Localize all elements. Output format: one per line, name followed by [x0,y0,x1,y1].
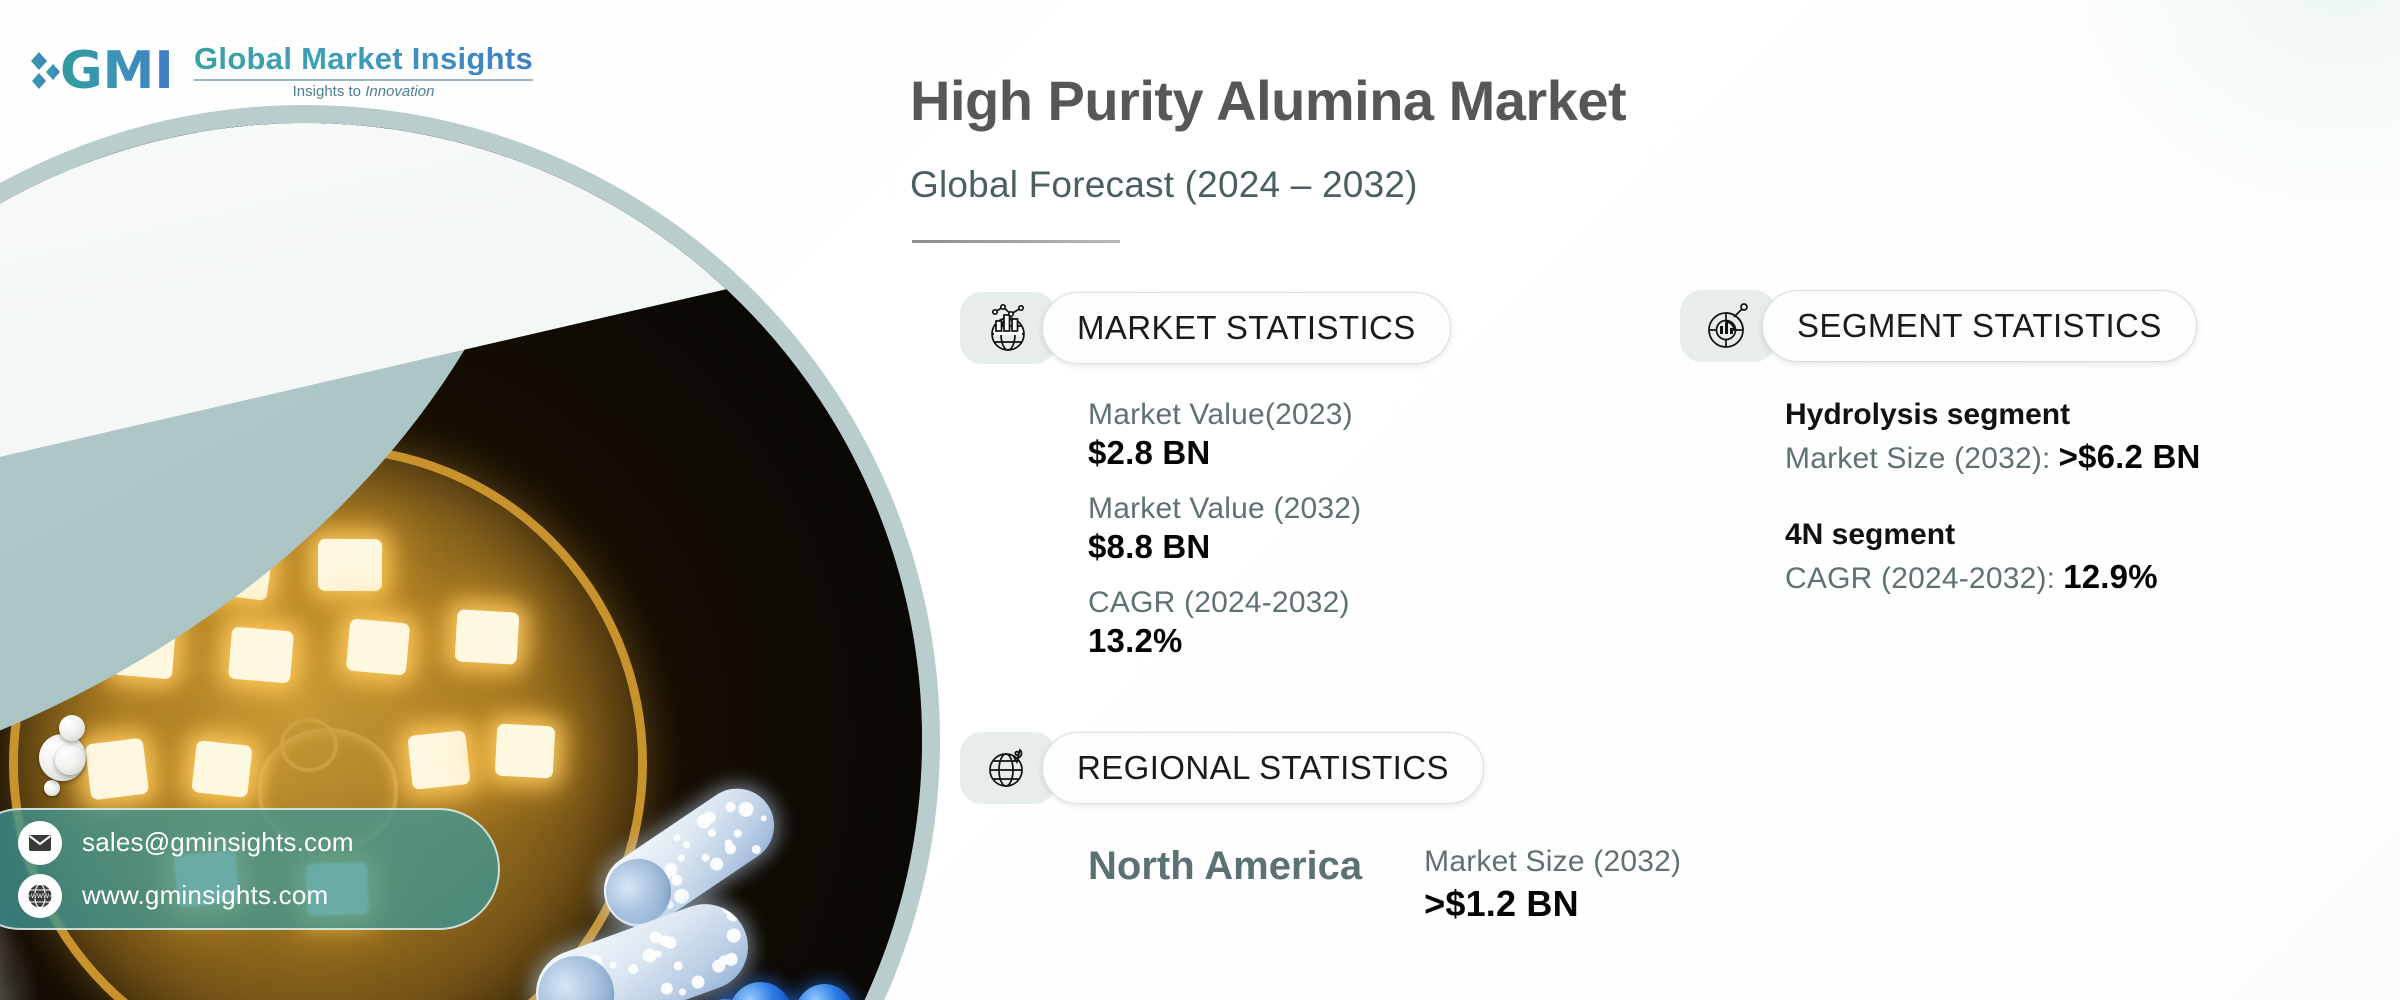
led-chip [318,539,382,591]
led-chip [495,724,556,779]
www-globe-icon: WWW [18,874,62,918]
led-dot [641,947,659,965]
market-statistics-header[interactable]: MARKET STATISTICS [960,292,1451,364]
tube-cap [528,945,625,1000]
led-dot [725,927,742,944]
market-row-value: 13.2% [1088,622,1361,660]
segment-metric-value: 12.9% [2063,558,2158,596]
contact-panel[interactable]: sales@gminsights.com WWW www.gminsights.… [0,808,500,930]
led-dot [609,960,618,969]
brand-divider [194,79,533,81]
segment-metric-value: >$6.2 BN [2059,438,2201,476]
brand-logo[interactable]: GMI Global Market Insights Insights to I… [30,40,533,102]
region-stats: Market Size (2032) >$1.2 BN [1424,845,1681,925]
gmi-diamonds-logo-icon: GMI [30,40,180,102]
led-dot [627,962,640,975]
segment-metric-label: CAGR (2024-2032): [1785,562,2055,596]
region-metric-label: Market Size (2032) [1424,845,1681,879]
segment-metric-row: CAGR (2024-2032): 12.9% [1785,558,2201,596]
market-row-value: $8.8 BN [1088,528,1361,566]
led-dot [706,828,717,839]
title-underline [912,240,1120,243]
blue-led-bulb [794,984,855,1000]
led-dot [690,974,707,991]
segment-metric-label: Market Size (2032): [1785,442,2051,476]
led-dot [672,960,684,972]
market-statistics-body: Market Value(2023) $2.8 BN Market Value … [1088,398,1361,680]
led-dot [750,843,762,855]
led-chip [85,738,149,801]
led-dot [732,828,742,838]
segment-statistics-body: Hydrolysis segment Market Size (2032): >… [1785,398,2201,638]
segment-metric-row: Market Size (2032): >$6.2 BN [1785,438,2201,476]
regional-statistics-label: REGIONAL STATISTICS [1042,732,1484,804]
envelope-icon [18,821,62,865]
led-dot [676,853,685,862]
contact-email-text: sales@gminsights.com [82,827,354,858]
segment-title: Hydrolysis segment [1785,398,2201,432]
led-dot [678,988,687,997]
alumina-sphere [59,715,85,741]
contact-email-row[interactable]: sales@gminsights.com [18,821,472,865]
market-row-value: $2.8 BN [1088,434,1361,472]
led-chip [191,740,252,798]
led-dot [682,840,691,849]
brand-tagline: Insights to Innovation [194,84,533,99]
led-dot [708,855,726,873]
brand-name: Global Market Insights [194,43,533,76]
segment-block: Hydrolysis segment Market Size (2032): >… [1785,398,2201,476]
segment-block: 4N segment CAGR (2024-2032): 12.9% [1785,518,2201,596]
led-chip [455,609,520,664]
contact-website-row[interactable]: WWW www.gminsights.com [18,874,472,918]
led-dot [672,833,681,842]
svg-text:WWW: WWW [31,893,49,900]
tagline-emphasis: Innovation [365,83,434,100]
led-chip [407,730,470,790]
brand-text-block: Global Market Insights Insights to Innov… [194,43,533,100]
alumina-sphere [55,745,85,775]
led-dot [659,981,675,997]
region-metric-value: >$1.2 BN [1424,883,1681,925]
segment-statistics-header[interactable]: SEGMENT STATISTICS [1680,290,2197,362]
market-row-label: Market Value (2032) [1088,492,1361,526]
segment-statistics-label: SEGMENT STATISTICS [1762,290,2197,362]
infographic-canvas: sales@gminsights.com WWW www.gminsights.… [0,0,2400,1000]
contact-website-text: www.gminsights.com [82,880,328,911]
led-dot [736,799,756,819]
market-statistics-label: MARKET STATISTICS [1042,292,1451,364]
led-dot [724,800,737,813]
tagline-prefix: Insights to [293,83,366,100]
market-row-label: CAGR (2024-2032) [1088,586,1361,620]
led-chip [346,618,410,675]
page-title: High Purity Alumina Market [910,68,1626,133]
svg-text:GMI: GMI [60,41,174,101]
regional-statistics-body: North America Market Size (2032) >$1.2 B… [1088,845,1681,925]
alumina-sphere [44,780,60,796]
blue-led-bulb [728,982,793,1000]
led-chip [228,627,294,684]
blue-led-cluster [502,797,902,1000]
page-subtitle: Global Forecast (2024 – 2032) [910,164,1418,206]
regional-statistics-header[interactable]: REGIONAL STATISTICS [960,732,1484,804]
led-dot [760,814,768,822]
market-row-label: Market Value(2023) [1088,398,1361,432]
region-name: North America [1088,845,1362,887]
segment-title: 4N segment [1785,518,2201,552]
